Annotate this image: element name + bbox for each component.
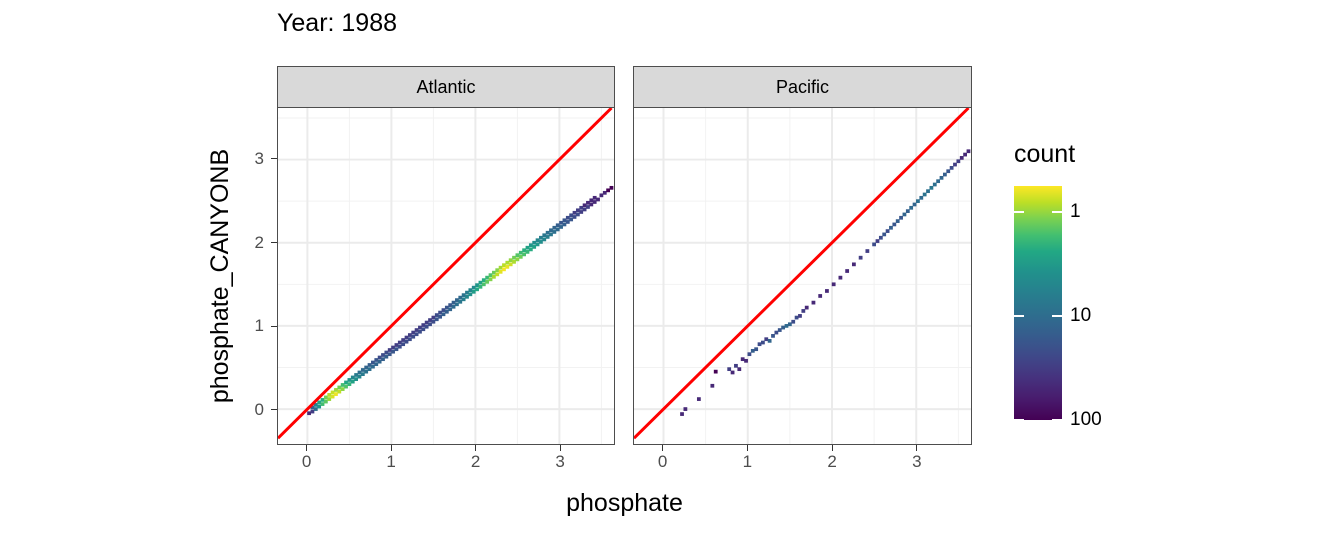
panel-inner — [634, 108, 971, 444]
x-tick-mark — [662, 445, 663, 451]
x-tick-label: 3 — [540, 452, 580, 472]
page-title: Year: 1988 — [277, 8, 397, 38]
x-axis-atlantic: 0123 — [277, 445, 615, 475]
legend-colorbar — [1014, 186, 1062, 420]
plot-root: Year: 1988 Atlantic Pacific 0123 0123 01… — [0, 0, 1344, 537]
y-tick-mark — [271, 158, 277, 159]
x-tick-label: 3 — [897, 452, 937, 472]
y-tick-mark — [271, 242, 277, 243]
legend-tick-mark — [1052, 315, 1062, 317]
x-tick-label: 1 — [727, 452, 767, 472]
legend-tick-mark — [1014, 419, 1024, 421]
legend: count 100101 — [1012, 140, 1172, 440]
x-tick-mark — [832, 445, 833, 451]
legend-tick-mark — [1014, 315, 1024, 317]
x-tick-label: 0 — [643, 452, 683, 472]
y-axis: 0123 — [236, 107, 270, 445]
reference-line-atlantic — [278, 108, 614, 444]
x-tick-label: 1 — [371, 452, 411, 472]
x-axis-pacific: 0123 — [633, 445, 972, 475]
x-tick-label: 0 — [287, 452, 327, 472]
y-tick-label: 0 — [255, 400, 264, 420]
legend-tick-label: 1 — [1070, 201, 1081, 223]
y-tick-label: 2 — [255, 233, 264, 253]
y-tick-mark — [271, 326, 277, 327]
x-tick-mark — [391, 445, 392, 451]
x-axis-title: phosphate — [277, 489, 972, 518]
facet-strip-atlantic: Atlantic — [277, 66, 615, 108]
legend-tick-mark — [1052, 419, 1062, 421]
x-tick-mark — [306, 445, 307, 451]
facet-strip-label: Atlantic — [416, 77, 475, 98]
facet-strip-label: Pacific — [776, 77, 829, 98]
x-tick-label: 2 — [812, 452, 852, 472]
panel-atlantic — [277, 107, 615, 445]
y-axis-title: phosphate_CANYONB — [206, 107, 235, 445]
y-tick-label: 1 — [255, 316, 264, 336]
x-tick-mark — [560, 445, 561, 451]
reference-line-pacific — [634, 108, 971, 444]
legend-tick-label: 10 — [1070, 305, 1091, 327]
x-tick-mark — [475, 445, 476, 451]
panel-pacific — [633, 107, 972, 445]
x-tick-mark — [916, 445, 917, 451]
legend-tick-mark — [1014, 211, 1024, 213]
legend-tick-mark — [1052, 211, 1062, 213]
y-tick-mark — [271, 409, 277, 410]
facet-strip-pacific: Pacific — [633, 66, 972, 108]
panel-inner — [278, 108, 614, 444]
legend-title: count — [1014, 140, 1075, 169]
x-tick-label: 2 — [456, 452, 496, 472]
legend-tick-label: 100 — [1070, 409, 1102, 431]
x-tick-mark — [747, 445, 748, 451]
y-tick-label: 3 — [255, 149, 264, 169]
